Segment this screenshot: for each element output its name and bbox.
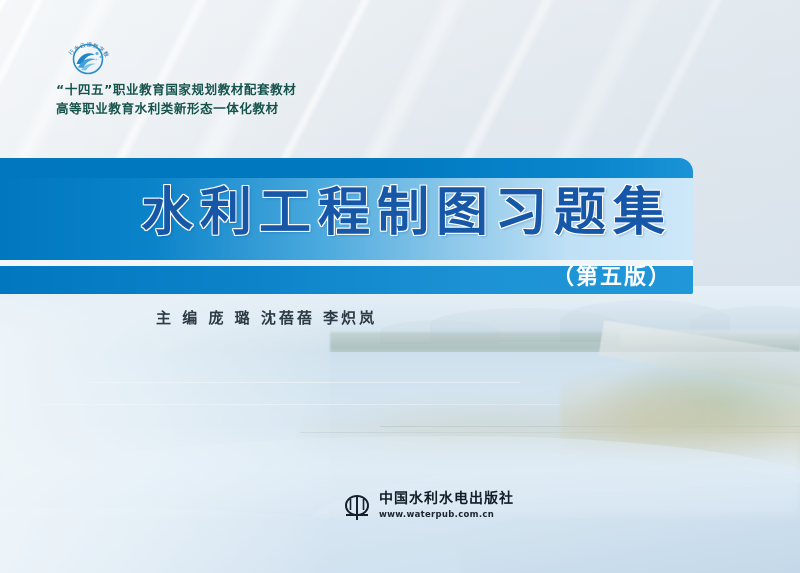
series-statement: “十四五”职业教育国家规划教材配套教材 高等职业教育水利类新形态一体化教材 xyxy=(56,80,476,118)
publisher-block: 中国水利水电出版社 www.waterpub.com.cn xyxy=(342,492,514,521)
china-water-power-press-emblem-icon xyxy=(342,493,372,521)
publisher-name: 中国水利水电出版社 xyxy=(379,492,514,507)
winter-reservoir-photograph xyxy=(0,286,800,573)
publisher-url: www.waterpub.com.cn xyxy=(379,509,514,521)
page-title: 水利工程制图习题集 xyxy=(0,170,672,245)
photo-color-wash xyxy=(0,286,800,573)
edition-label: （第五版） xyxy=(0,259,672,291)
series-line-2: 高等职业教育水利类新形态一体化教材 xyxy=(56,99,476,118)
book-cover: 行水云课数字教材 “十四五”职业教育国家规划教材配套教材 高等职业教育水利类新形… xyxy=(0,0,800,573)
publisher-text: 中国水利水电出版社 www.waterpub.com.cn xyxy=(379,492,514,521)
water-wave-circle-logo-icon: 行水云课数字教材 xyxy=(62,28,114,78)
author-line: 主 编 庞 璐 沈蓓蓓 李炽岚 xyxy=(156,307,377,328)
series-line-1: “十四五”职业教育国家规划教材配套教材 xyxy=(56,80,476,99)
